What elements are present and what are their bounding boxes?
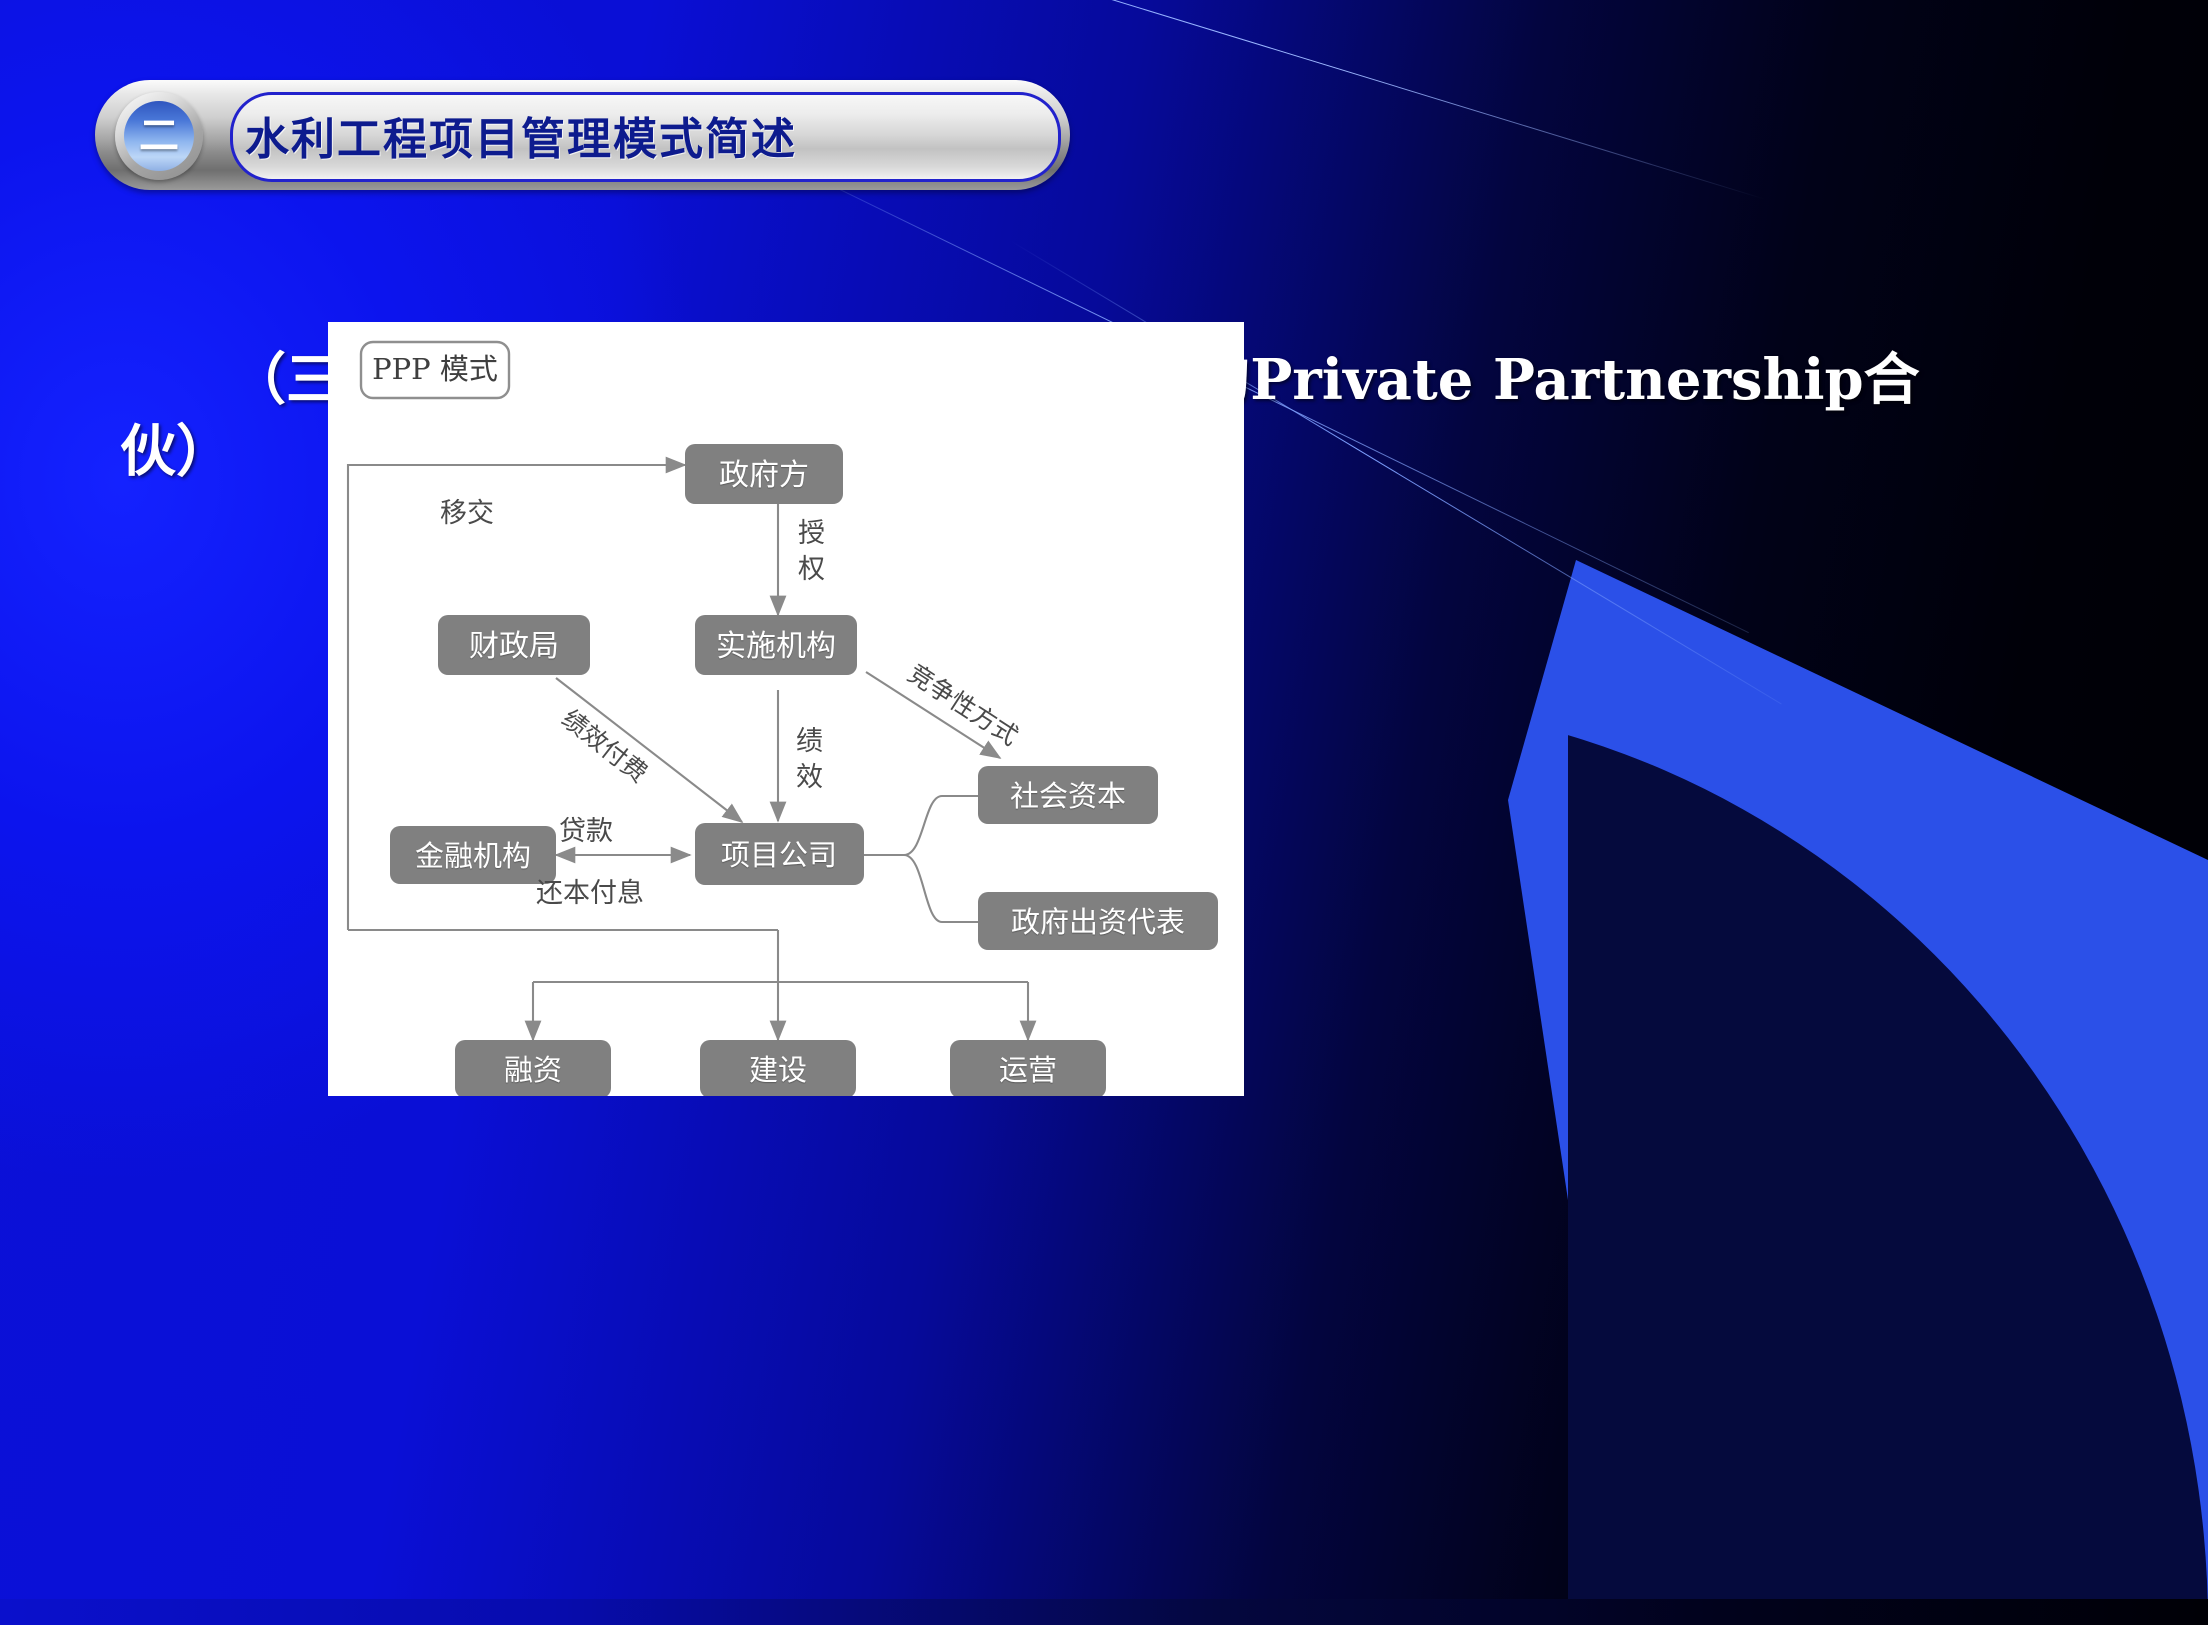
ppp-diagram-canvas: PPP 模式 政府方 财政局 实施机构 社会资本 金融机构 (328, 322, 1244, 1096)
node-operation-label: 运营 (999, 1053, 1057, 1087)
edge-label-transfer: 移交 (440, 498, 494, 529)
number-two-badge-icon: 二 (115, 92, 203, 180)
node-social-capital[interactable]: 社会资本 (978, 766, 1158, 824)
node-construction[interactable]: 建设 (700, 1040, 856, 1096)
node-financial-institution-label: 金融机构 (415, 839, 531, 873)
edge-label-performance: 绩 (796, 726, 823, 757)
node-gov-investor-rep[interactable]: 政府出资代表 (978, 892, 1218, 950)
edge-label-competitive: 竞争性方式 (903, 659, 1024, 751)
edge-label-repayment: 还本付息 (536, 878, 644, 909)
node-financial-institution[interactable]: 金融机构 (390, 826, 556, 884)
slide-header: 二 水利工程项目管理模式简述 (95, 80, 1070, 190)
node-implementing-agency-label: 实施机构 (716, 629, 836, 664)
badge-core: 二 (124, 101, 194, 171)
ppp-caption-label: PPP 模式 (372, 352, 498, 386)
ppp-caption-box: PPP 模式 (361, 342, 509, 398)
node-finance-bureau-label: 财政局 (469, 629, 559, 664)
page-title: 水利工程项目管理模式简述 (245, 80, 1045, 190)
node-implementing-agency[interactable]: 实施机构 (695, 615, 857, 675)
node-gov[interactable]: 政府方 (685, 444, 843, 504)
node-project-company[interactable]: 项目公司 (695, 823, 864, 885)
badge-label: 二 (124, 101, 194, 171)
svg-text:效: 效 (796, 762, 823, 793)
node-construction-label: 建设 (749, 1053, 807, 1087)
node-operation[interactable]: 运营 (950, 1040, 1106, 1096)
edge-label-authorize: 授 (798, 518, 825, 549)
node-project-company-label: 项目公司 (721, 838, 837, 872)
node-gov-label: 政府方 (719, 458, 809, 493)
background-dark-arc (1568, 700, 2208, 1625)
node-financing-label: 融资 (504, 1053, 562, 1087)
svg-text:权: 权 (798, 554, 825, 585)
node-social-capital-label: 社会资本 (1010, 779, 1126, 813)
headline-line-2: 伙） (120, 419, 232, 485)
edge-label-loan: 贷款 (559, 816, 613, 847)
slide-root: 二 水利工程项目管理模式简述 （三）PPP模式（公共的Public-私营的Pri… (0, 0, 2208, 1625)
node-financing[interactable]: 融资 (455, 1040, 611, 1096)
node-finance-bureau[interactable]: 财政局 (438, 615, 590, 675)
node-gov-investor-rep-label: 政府出资代表 (1011, 905, 1185, 939)
background-bottom-band (0, 1599, 2208, 1625)
